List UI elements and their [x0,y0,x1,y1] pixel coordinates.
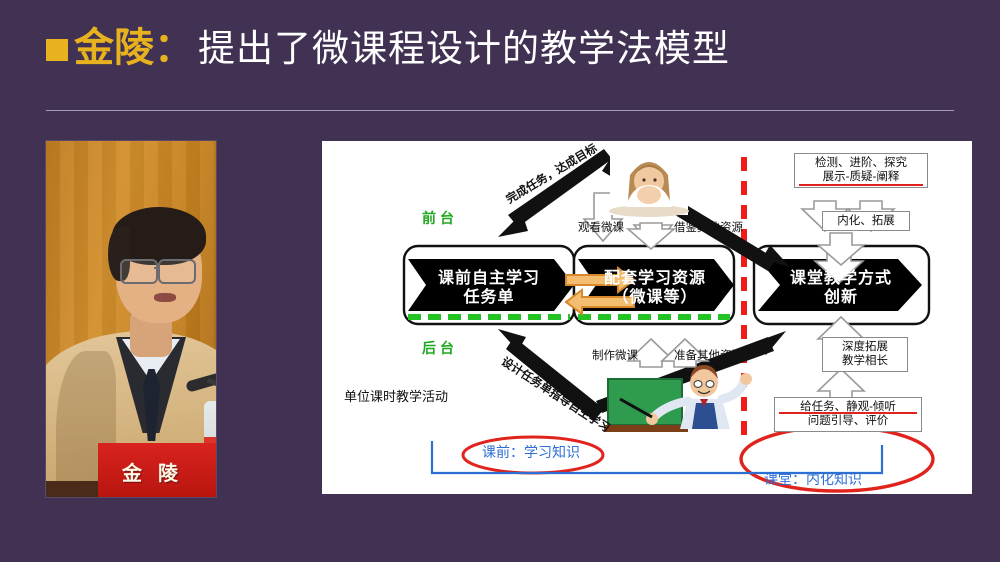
stage-back-label: 后台 [422,341,458,357]
right-box-deep-line2: 教学相长 [827,354,903,368]
caption-in-class: 课堂：内化知识 拓展能力 发展核心素养 [764,433,870,494]
caption-in-class-line1: 课堂：内化知识 [764,471,870,490]
speaker-photo: 金陵 [46,141,216,497]
right-box-top: 检测、进阶、探究 展示-质疑-阐释 [794,153,928,188]
square-bullet-icon [46,39,68,61]
pedagogy-model-diagram: 课前自主学习 任务单 配套学习资源 （微课等） 课堂教学方式 创新 前台 后台 [322,141,972,494]
name-plate: 金陵 [98,443,216,497]
red-underline-top [799,184,923,186]
red-underline-bottom [779,412,917,414]
unit-activity-label: 单位课时教学活动 [344,391,448,406]
title-rest: 提出了微课程设计的教学法模型 [198,30,730,67]
photo-glasses-bridge [154,267,160,269]
chevron-1-line2: 任务单 [463,289,514,306]
arrow-label-make-micro-lesson: 制作微课 [592,349,638,362]
title-divider [46,110,954,111]
page-title: 金陵： 提出了微课程设计的教学法模型 [46,28,730,68]
chevron-1-line1: 课前自主学习 [438,270,540,287]
right-box-top-line1: 检测、进阶、探究 [799,156,923,170]
right-box-deep-expansion: 深度拓展 教学相长 [822,337,908,372]
chevron-2-line2: （微课等） [612,289,697,306]
photo-mouth [154,293,176,302]
slide-root: 金陵： 提出了微课程设计的教学法模型 金陵 [0,0,1000,562]
right-box-teacher-role: 给任务、静观-倾听 问题引导、评价 [774,397,922,432]
title-name: 金陵： [74,28,194,68]
photo-glasses-left [120,259,158,284]
right-box-role-line2: 问题引导、评价 [808,415,889,427]
chevron-3-line1: 课堂教学方式 [790,270,892,287]
arrow-label-borrow-resources: 借鉴其他资源 [674,221,743,234]
right-box-deep-line1: 深度拓展 [827,340,903,354]
chevron-3-line2: 创新 [824,289,858,306]
student-photo [609,153,689,217]
name-plate-text: 金陵 [98,443,216,486]
arrow-label-watch-micro-lesson: 观看微课 [578,221,624,234]
arrow-label-prepare-resources: 准备其他资源 [674,349,743,362]
right-box-internalize: 内化、拓展 [822,211,910,231]
chevron-2-line1: 配套学习资源 [604,270,706,287]
diagram-vector-layer [322,141,972,494]
right-box-top-line2-wrap: 展示-质疑-阐释 [799,170,923,184]
caption-before-class: 课前：学习知识 [482,445,580,461]
stage-front-label: 前台 [422,211,458,227]
photo-glasses-right [158,259,196,284]
right-box-role-line2-wrap: 问题引导、评价 [779,414,917,428]
right-box-top-line2: 展示-质疑-阐释 [823,171,900,183]
